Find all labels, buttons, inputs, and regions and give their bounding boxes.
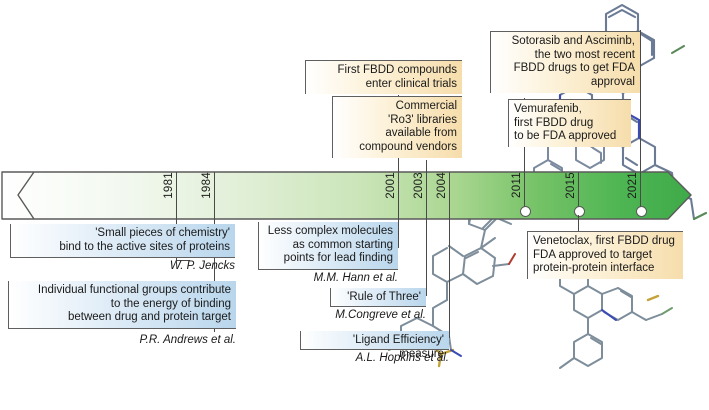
- tick-line: [176, 172, 177, 218]
- timeline-marker-2011: [520, 206, 531, 217]
- tick-line: [449, 172, 450, 218]
- tick-line: [578, 172, 579, 208]
- tick-line: [398, 172, 399, 218]
- callout-jencks[interactable]: 'Small pieces of chemistry' bind to the …: [10, 224, 235, 258]
- callout-hann[interactable]: Less complex molecules as common startin…: [258, 222, 398, 270]
- attribution-jencks: W. P. Jencks: [10, 260, 235, 274]
- callout-venetoclax[interactable]: Venetoclax, first FBDD drug FDA approved…: [527, 231, 683, 279]
- connector-line: [640, 30, 641, 172]
- connector-line: [398, 218, 399, 248]
- tick-line: [524, 172, 525, 208]
- tick-line: [426, 172, 427, 218]
- tick-line: [640, 172, 641, 208]
- attribution-hann: M.M. Hann et al.: [258, 272, 398, 286]
- callout-first-fbdd-clinical-trials[interactable]: First FBDD compounds enter clinical tria…: [305, 60, 462, 94]
- tick-line: [214, 172, 215, 218]
- attribution-hopkins: A.L. Hopkins et al.: [300, 352, 449, 366]
- attribution-congreve: M.Congreve et al.: [330, 309, 426, 323]
- connector-line: [449, 218, 450, 338]
- callout-hopkins[interactable]: 'Ligand Efficiency' measure: [300, 331, 449, 350]
- timeline-arrow-banner: [0, 168, 709, 224]
- connector-line: [426, 160, 427, 172]
- callout-andrews[interactable]: Individual functional groups contribute …: [8, 281, 236, 329]
- timeline-marker-2021: [636, 206, 647, 217]
- callout-ro3-libraries[interactable]: Commercial 'Ro3' libraries available fro…: [332, 96, 462, 158]
- connector-line: [426, 218, 427, 296]
- timeline-figure: 1981 1984 2001 2003 2004 2011 2015: [0, 0, 709, 410]
- timeline-marker-2015: [574, 206, 585, 217]
- callout-sotorasib-asciminb[interactable]: Sotorasib and Asciminb, the two most rec…: [490, 31, 640, 93]
- callout-vemurafenib[interactable]: Vemurafenib, first FBDD drug to be FDA a…: [508, 99, 631, 147]
- callout-congreve[interactable]: 'Rule of Three': [330, 288, 426, 307]
- connector-line: [578, 215, 579, 231]
- attribution-andrews: P.R. Andrews et al.: [8, 334, 236, 348]
